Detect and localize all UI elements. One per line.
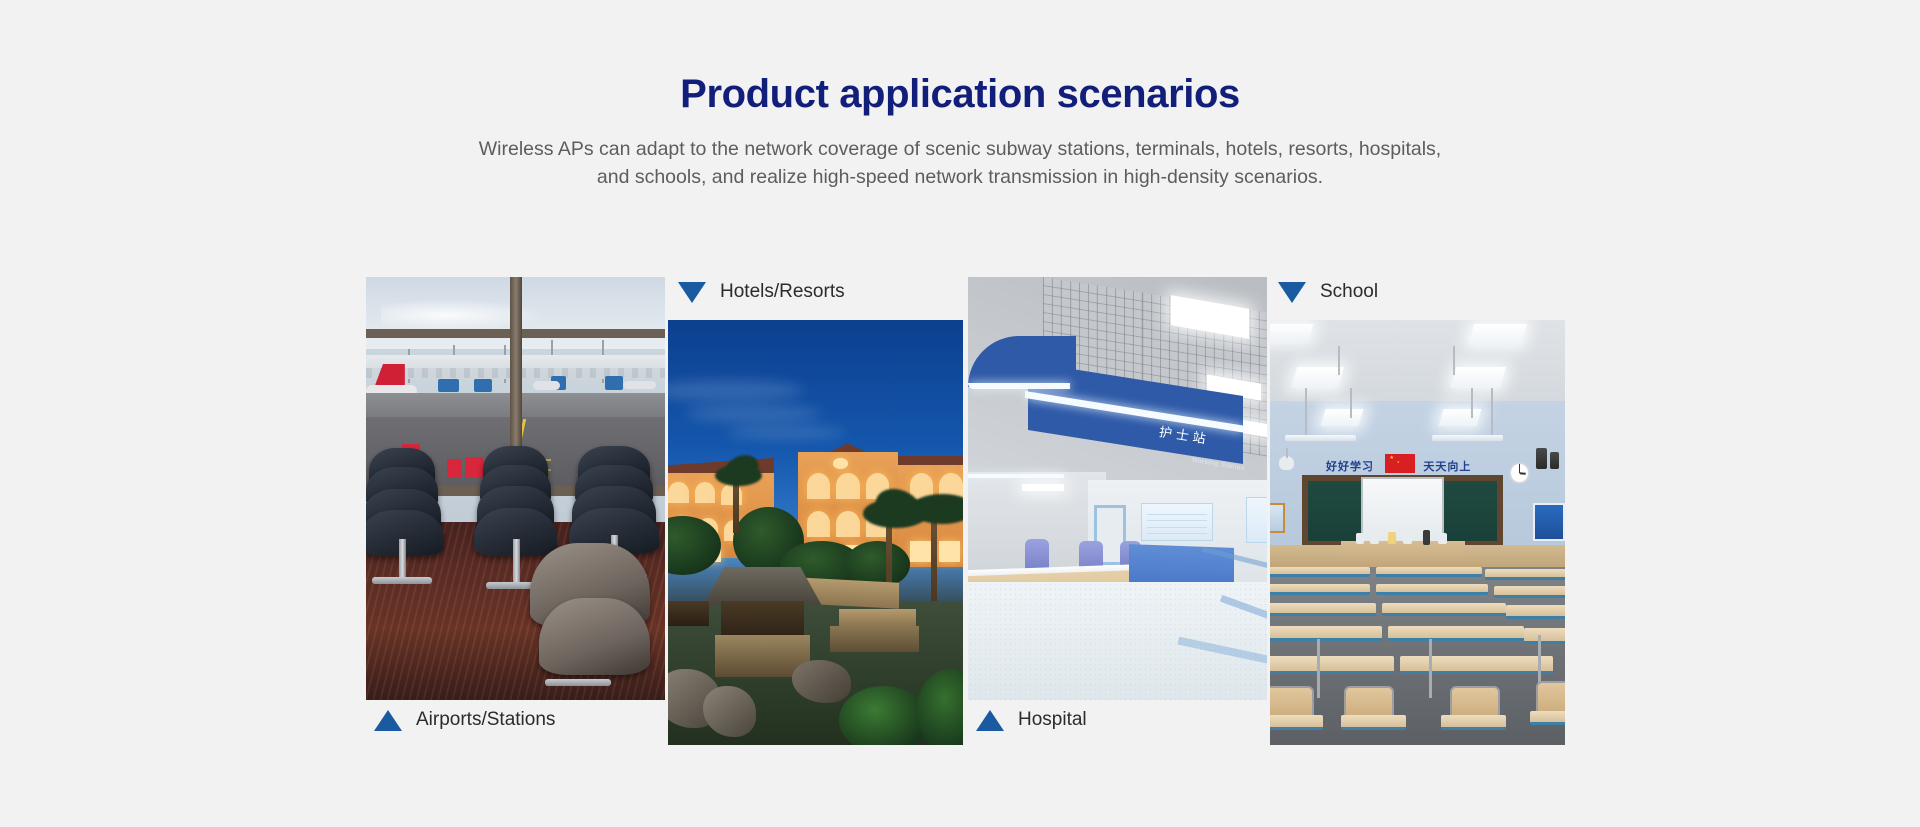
airport-photo [366,277,665,700]
school-slogan-left: 好好学习 [1326,458,1374,474]
scenario-image-school[interactable]: 好好学习 天天向上 ★ ★ [1270,320,1565,745]
hospital-photo: 护士站 Nursing Station [968,277,1267,700]
wall-clock-icon [1509,462,1530,483]
triangle-up-icon [976,710,1004,731]
scenario-caption-hotels-resorts: Hotels/Resorts [678,281,845,303]
application-scenarios-page: Product application scenarios Wireless A… [0,0,1920,827]
scenario-caption-hospital: Hospital [976,709,1087,731]
triangle-down-icon [1278,282,1306,303]
triangle-up-icon [374,710,402,731]
scenario-label-airports-stations: Airports/Stations [416,709,555,731]
scenario-image-hotels-resorts[interactable] [668,320,963,745]
scenario-label-school: School [1320,281,1378,303]
scenario-label-hospital: Hospital [1018,709,1087,731]
scenario-gallery: Airports/Stations Hotels/Resorts [0,0,1920,827]
school-photo: 好好学习 天天向上 ★ ★ [1270,320,1565,745]
scenario-image-hospital[interactable]: 护士站 Nursing Station [968,277,1267,700]
scenario-caption-airports-stations: Airports/Stations [374,709,555,731]
scenario-caption-school: School [1278,281,1378,303]
scenario-image-airports-stations[interactable] [366,277,665,700]
scenario-label-hotels-resorts: Hotels/Resorts [720,281,845,303]
school-slogan-right: 天天向上 [1423,458,1471,474]
triangle-down-icon [678,282,706,303]
resort-photo [668,320,963,745]
